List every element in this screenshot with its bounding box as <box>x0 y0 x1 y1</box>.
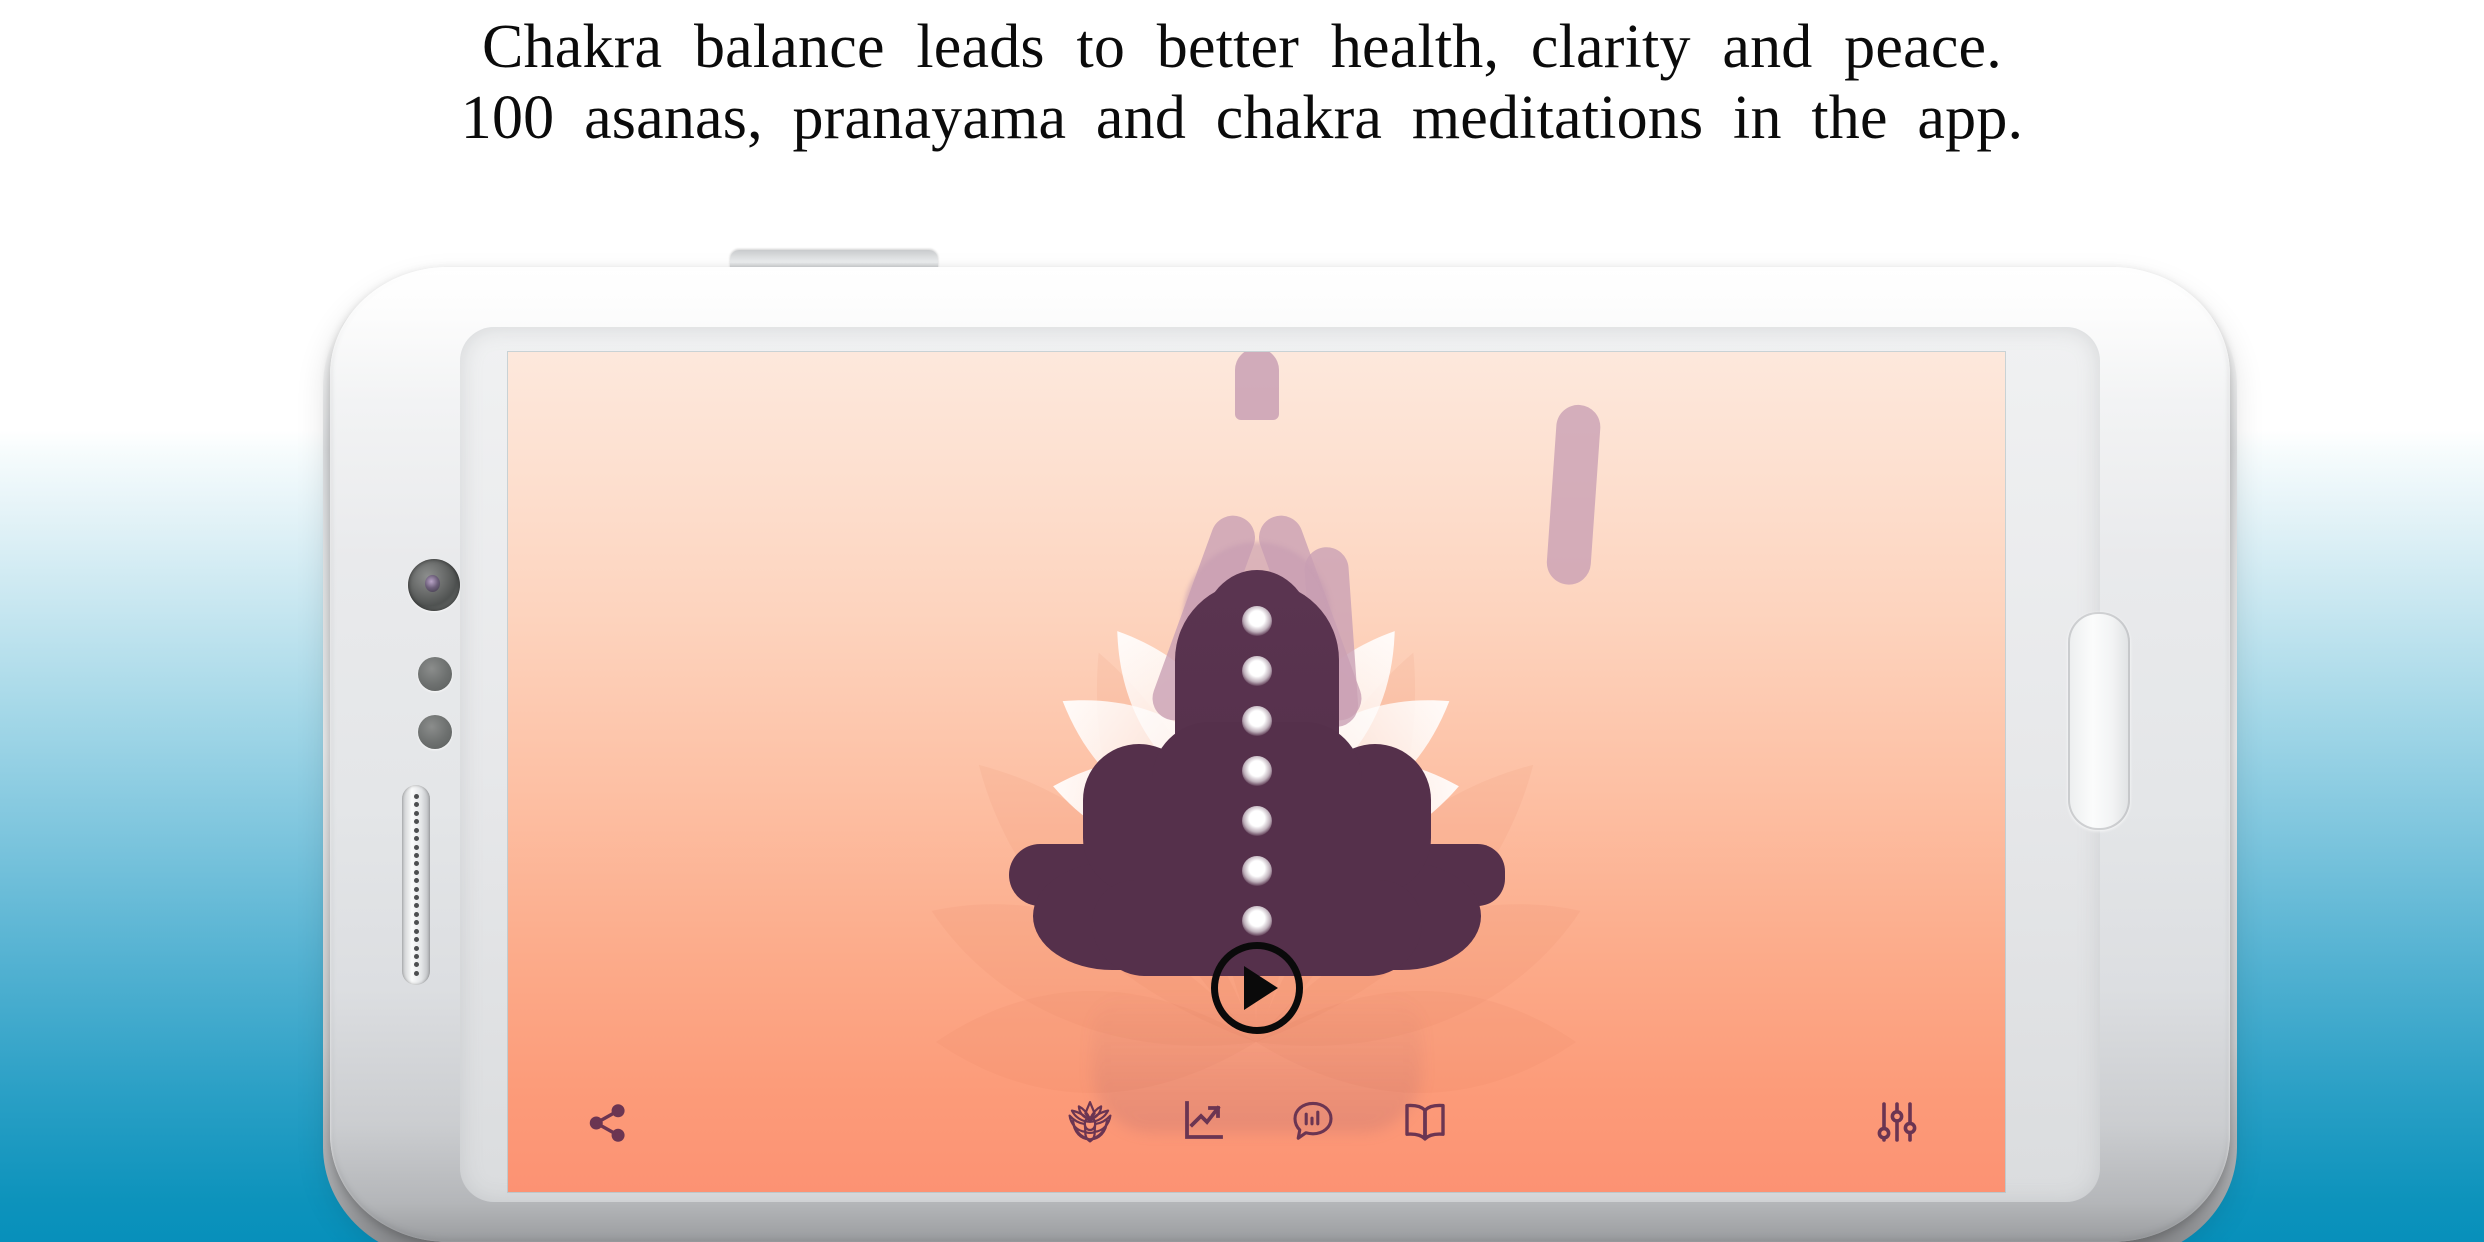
statistics-button[interactable] <box>1289 1097 1337 1145</box>
speaker-dot <box>414 878 419 883</box>
sliders-icon <box>1873 1098 1921 1146</box>
share-icon <box>586 1100 630 1146</box>
speaker-dot <box>414 811 419 816</box>
speaker-dot <box>414 912 419 917</box>
meditations-button[interactable] <box>1063 1096 1117 1146</box>
chakra-point <box>1242 706 1272 736</box>
bottom-toolbar <box>508 1082 2005 1192</box>
prayer-hands <box>1235 352 1279 420</box>
speaker-dot <box>414 929 419 934</box>
light-sensor-icon <box>418 715 452 749</box>
speaker-dot <box>414 853 419 858</box>
speaker-dot <box>414 828 419 833</box>
speaker-grille-icon <box>402 785 430 985</box>
play-button[interactable] <box>1211 942 1303 1034</box>
chakra-point <box>1242 656 1272 686</box>
speaker-dot <box>414 870 419 875</box>
chakra-point <box>1242 806 1272 836</box>
chakra-points <box>1240 606 1274 936</box>
speaker-dot <box>414 971 419 976</box>
chakra-point <box>1242 856 1272 886</box>
device-mockup <box>330 255 2230 1242</box>
headline-line-1: Chakra balance leads to better health, c… <box>0 12 2484 83</box>
phone-screen[interactable] <box>508 352 2005 1192</box>
home-button[interactable] <box>2068 612 2130 830</box>
speaker-dot <box>414 903 419 908</box>
speaker-dot <box>414 895 419 900</box>
speaker-dot <box>414 845 419 850</box>
progress-button[interactable] <box>1179 1097 1227 1145</box>
chat-stats-icon <box>1289 1097 1337 1145</box>
speaker-dot <box>414 920 419 925</box>
speaker-dot <box>414 802 419 807</box>
meditating-figure-icon <box>1027 392 1487 952</box>
speaker-dot <box>414 861 419 866</box>
camera-lens-icon <box>408 559 460 611</box>
headline-line-2: 100 asanas, pranayama and chakra meditat… <box>0 83 2484 154</box>
share-button[interactable] <box>586 1100 630 1146</box>
open-book-icon <box>1399 1097 1451 1145</box>
settings-button[interactable] <box>1873 1098 1921 1146</box>
line-chart-icon <box>1179 1097 1227 1145</box>
play-icon <box>1244 966 1278 1010</box>
chakra-point <box>1242 756 1272 786</box>
speaker-dot <box>414 962 419 967</box>
phone-body <box>330 267 2230 1242</box>
proximity-sensor-icon <box>418 657 452 691</box>
speaker-dot <box>414 794 419 799</box>
library-button[interactable] <box>1399 1097 1451 1145</box>
speaker-dot <box>414 937 419 942</box>
speaker-dot <box>414 954 419 959</box>
speaker-dot <box>414 946 419 951</box>
lotus-icon <box>1063 1096 1117 1146</box>
chakra-point <box>1242 606 1272 636</box>
chakra-point <box>1242 906 1272 936</box>
page-headline: Chakra balance leads to better health, c… <box>0 0 2484 155</box>
speaker-dot <box>414 836 419 841</box>
speaker-dot <box>414 819 419 824</box>
speaker-dot <box>414 887 419 892</box>
